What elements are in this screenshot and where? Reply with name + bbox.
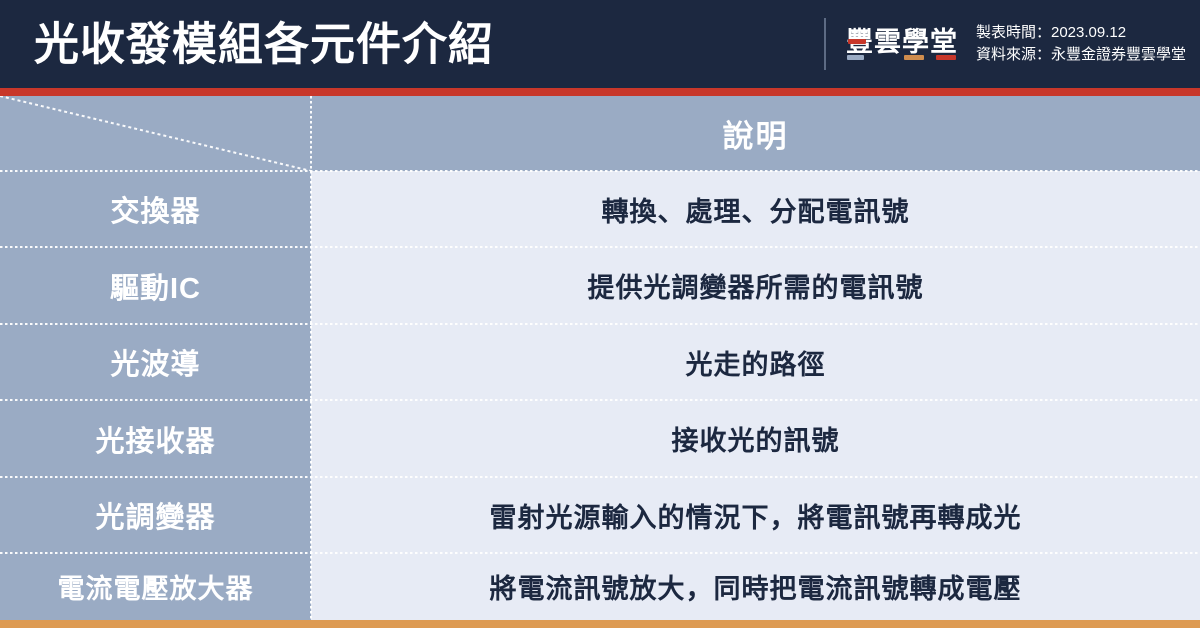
page-title: 光收發模組各元件介紹 xyxy=(34,22,494,67)
table-row-description: 將電流訊號放大，同時把電流訊號轉成電壓 xyxy=(311,553,1200,620)
table-row-component: 光波導 xyxy=(0,324,311,400)
corner-diagonal-icon xyxy=(0,96,311,171)
page-header: 光收發模組各元件介紹 豐雲學堂 製表時間：2023.09.12 資料來源：永豐金… xyxy=(0,0,1200,88)
logo-accent-red-icon xyxy=(848,39,866,44)
footer-accent-rule xyxy=(0,620,1200,628)
header-branding: 豐雲學堂 製表時間：2023.09.12 資料來源：永豐金證券豐雲學堂 xyxy=(824,0,1186,88)
table-row-component: 光接收器 xyxy=(0,400,311,477)
table-row-component: 光調變器 xyxy=(0,477,311,553)
infographic-table-page: 光收發模組各元件介紹 豐雲學堂 製表時間：2023.09.12 資料來源：永豐金… xyxy=(0,0,1200,628)
table-row-component: 驅動IC xyxy=(0,247,311,324)
table-row-description: 雷射光源輸入的情況下，將電訊號再轉成光 xyxy=(311,477,1200,553)
table-row-component: 電流電壓放大器 xyxy=(0,553,311,620)
source-row: 資料來源：永豐金證券豐雲學堂 xyxy=(976,44,1186,66)
header-divider xyxy=(824,18,826,70)
column-header-description: 說明 xyxy=(311,96,1200,171)
logo-accent-orange-icon xyxy=(904,55,924,60)
table-row-description: 光走的路徑 xyxy=(311,324,1200,400)
logo-accent-red2-icon xyxy=(936,55,956,60)
table-row-description: 轉換、處理、分配電訊號 xyxy=(311,171,1200,247)
table-row-description: 提供光調變器所需的電訊號 xyxy=(311,247,1200,324)
created-time-value: 2023.09.12 xyxy=(1051,24,1126,41)
data-table: 說明 交換器 轉換、處理、分配電訊號 驅動IC 提供光調變器所需的電訊號 光波導… xyxy=(0,96,1200,620)
header-accent-rule xyxy=(0,88,1200,96)
created-time-row: 製表時間：2023.09.12 xyxy=(976,22,1186,44)
source-value: 永豐金證券豐雲學堂 xyxy=(1051,46,1186,63)
created-time-label: 製表時間： xyxy=(976,24,1051,41)
source-label: 資料來源： xyxy=(976,46,1051,63)
logo-accent-grey-icon xyxy=(847,55,864,60)
table-row-description: 接收光的訊號 xyxy=(311,400,1200,477)
table-row-component: 交換器 xyxy=(0,171,311,247)
header-meta: 製表時間：2023.09.12 資料來源：永豐金證券豐雲學堂 xyxy=(976,22,1186,66)
brand-logo: 豐雲學堂 xyxy=(846,29,958,60)
